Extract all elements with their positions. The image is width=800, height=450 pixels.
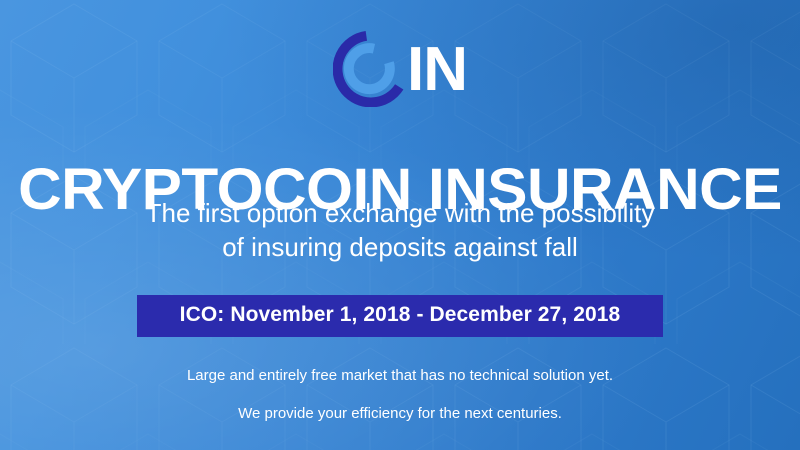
logo-wordmark: IN xyxy=(407,39,467,101)
double-c-ring-icon xyxy=(333,31,409,107)
footer-line-2: We provide your efficiency for the next … xyxy=(0,406,800,421)
footer-line-1: Large and entirely free market that has … xyxy=(0,368,800,383)
subtitle: The first option exchange with the possi… xyxy=(0,196,800,265)
ico-badge-wrapper: ICO: November 1, 2018 - December 27, 201… xyxy=(0,295,800,337)
subtitle-line-2: of insuring deposits against fall xyxy=(0,230,800,264)
footer-text: Large and entirely free market that has … xyxy=(0,368,800,421)
ico-dates-badge: ICO: November 1, 2018 - December 27, 201… xyxy=(137,295,663,337)
promo-banner: IN CRYPTOCOIN INSURANCE The first option… xyxy=(0,0,800,450)
logo: IN xyxy=(0,24,800,114)
subtitle-line-1: The first option exchange with the possi… xyxy=(0,196,800,230)
banner-content: IN CRYPTOCOIN INSURANCE The first option… xyxy=(0,0,800,450)
